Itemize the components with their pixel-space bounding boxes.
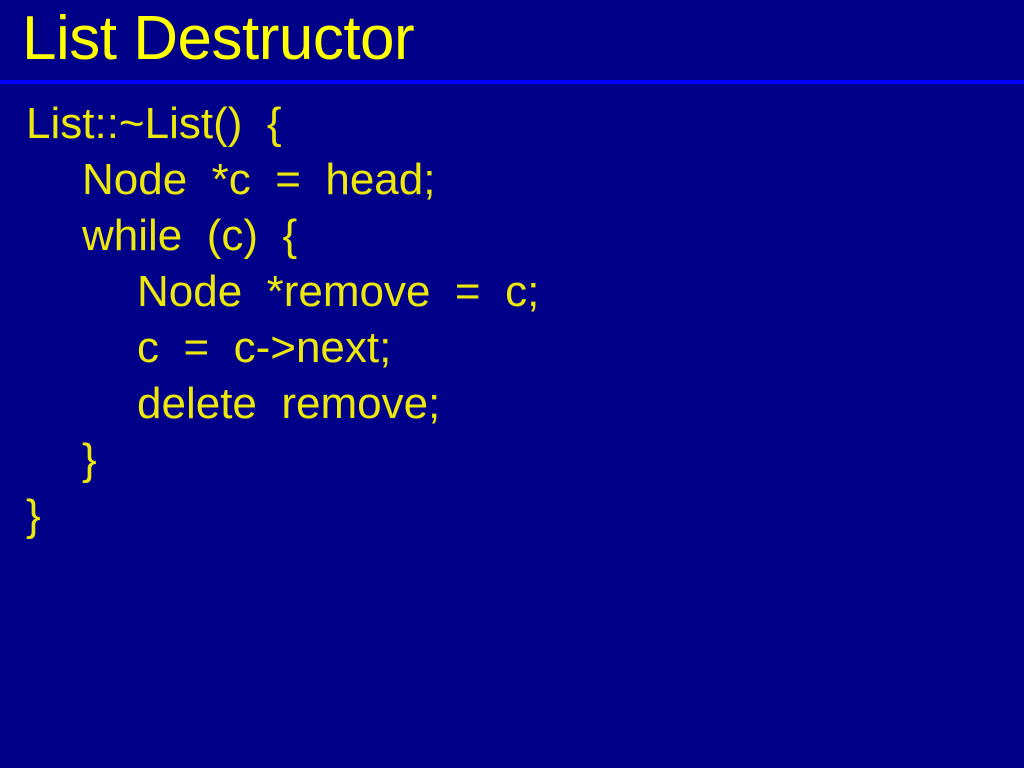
page-title: List Destructor (22, 4, 414, 74)
code-line: delete remove; (0, 376, 1024, 432)
code-line: } (0, 432, 1024, 488)
code-line: } (0, 488, 1024, 544)
code-line: c = c->next; (0, 320, 1024, 376)
presentation-slide: List Destructor List::~List() { Node *c … (0, 0, 1024, 768)
code-line: List::~List() { (0, 96, 1024, 152)
code-line: Node *c = head; (0, 152, 1024, 208)
code-line: while (c) { (0, 208, 1024, 264)
slide-title-block: List Destructor (0, 0, 1024, 84)
code-line: Node *remove = c; (0, 264, 1024, 320)
title-underline-divider (0, 80, 1024, 84)
code-listing: List::~List() { Node *c = head; while (c… (0, 96, 1024, 544)
